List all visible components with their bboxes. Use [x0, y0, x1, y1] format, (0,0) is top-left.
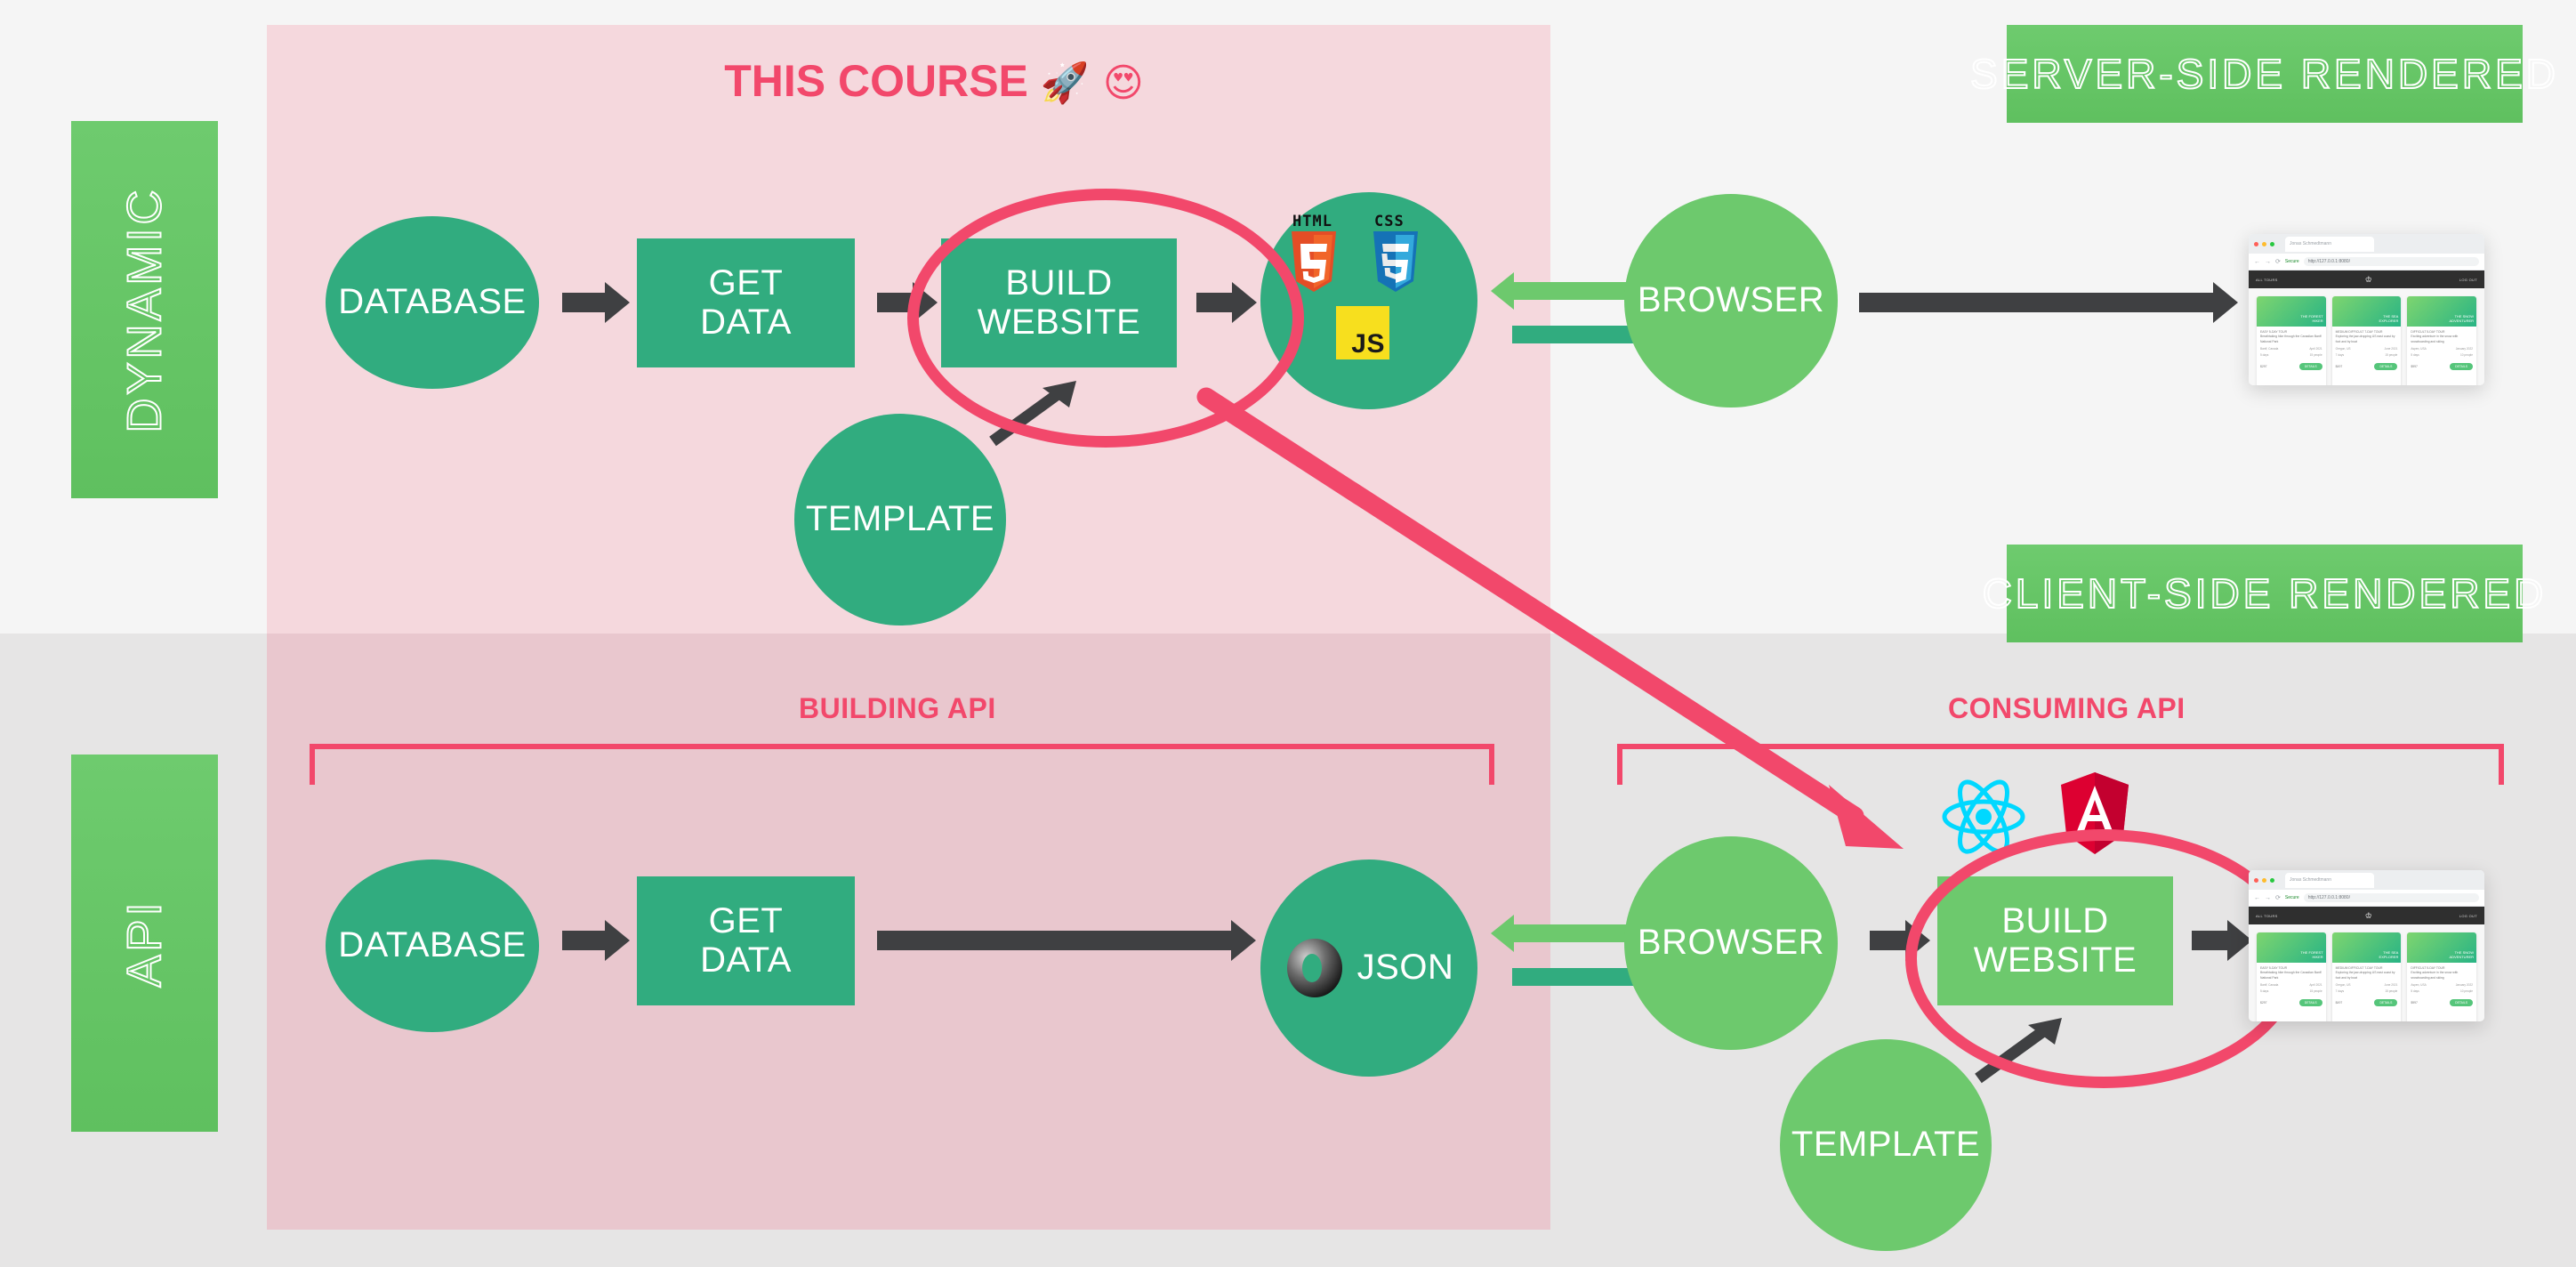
highlight-circle-build-bottom	[1905, 829, 2302, 1088]
traffic-light-minimize-icon	[2262, 878, 2266, 883]
diagram-canvas: DYNAMIC API SERVER-SIDE RENDERED CLIENT-…	[0, 0, 2576, 1267]
tour-card-price: $497	[2336, 365, 2343, 368]
tour-card-title: THE SEA EXPLORER	[2379, 314, 2399, 324]
ribbon-api-label: API	[117, 899, 172, 987]
back-icon: ←	[2254, 259, 2260, 265]
tour-card-details-button[interactable]: DETAILS	[2374, 999, 2397, 1006]
tour-card: THE SNOW ADVENTURER DIFFICULT 5-DAY TOUR…	[2407, 296, 2476, 385]
tour-card-hero: THE SEA EXPLORER	[2332, 296, 2402, 327]
tour-card-hero: THE SEA EXPLORER	[2332, 932, 2402, 963]
mock-url-top: http://127.0.0.1:8080/	[2304, 257, 2479, 266]
tour-card-meta-row: 5 days 10 people	[2411, 989, 2473, 993]
tour-card-desc: Breathtaking hike through the Canadian B…	[2260, 971, 2322, 981]
headline-text: THIS COURSE	[724, 56, 1028, 106]
label-building-api: BUILDING API	[799, 692, 996, 725]
mock-tabbar-bottom: Jonas Schmedtmann	[2249, 870, 2484, 890]
tour-card-details-button[interactable]: DETAILS	[2450, 999, 2473, 1006]
arrow-browser-to-page-top	[1859, 293, 2215, 312]
traffic-light-minimize-icon	[2262, 242, 2266, 246]
mock-nav-logout-top: LOG OUT	[2459, 278, 2477, 282]
node-template-bottom: TEMPLATE	[1780, 1039, 1992, 1251]
tour-card-body: EASY 5-DAY TOUR Breathtaking hike throug…	[2257, 327, 2326, 360]
tour-card-meta-row: Aspen, USA January 2022	[2411, 347, 2473, 351]
tour-card-desc: Exciting adventure in the snow with snow…	[2411, 971, 2473, 981]
secure-label-bottom: Secure	[2285, 895, 2299, 900]
html5-label: HTML	[1292, 214, 1332, 230]
arrow-stack-to-browser-top	[1512, 326, 1646, 343]
tour-card-price: $997	[2411, 365, 2418, 368]
tour-card-meta-row: Banff, Canada April 2021	[2260, 983, 2322, 987]
mock-cards-bottom: THE FOREST HIKER EASY 5-DAY TOUR Breatht…	[2249, 924, 2484, 1021]
tour-card-meta-row: 5 days 10 people	[2411, 353, 2473, 357]
back-icon: ←	[2254, 895, 2260, 901]
mock-site-logo-top: ♔	[2365, 275, 2372, 285]
js-label: JS	[1351, 330, 1389, 359]
tour-card-meta-row: 7 days 15 people	[2336, 353, 2398, 357]
tour-card-footer: $297 DETAILS	[2257, 997, 2326, 1009]
mock-tab-title-top: Jonas Schmedtmann	[2285, 237, 2374, 252]
node-json: JSON	[1260, 859, 1477, 1077]
node-get-data-bottom-line1: GET	[700, 902, 792, 940]
tour-card-footer: $497 DETAILS	[2332, 997, 2402, 1009]
tour-card-hero: THE SNOW ADVENTURER	[2407, 932, 2476, 963]
tour-card-body: EASY 5-DAY TOUR Breathtaking hike throug…	[2257, 963, 2326, 997]
badge-server-side-rendered: SERVER-SIDE RENDERED	[2007, 25, 2523, 123]
node-template-top: TEMPLATE	[794, 414, 1006, 625]
traffic-light-maximize-icon	[2270, 242, 2274, 246]
tour-card-hero: THE SNOW ADVENTURER	[2407, 296, 2476, 327]
node-get-data-bottom-line2: DATA	[700, 941, 792, 980]
mock-sitenav-top: ALL TOURS ♔ LOG OUT	[2249, 270, 2484, 288]
tour-card-meta-row: Banff, Canada April 2021	[2260, 347, 2322, 351]
tour-card-price: $997	[2411, 1001, 2418, 1005]
headline-emoji: 🚀 😍	[1041, 61, 1144, 106]
browser-mockup-bottom: Jonas Schmedtmann ← → ⟳ Secure http://12…	[2249, 870, 2484, 1021]
traffic-light-close-icon	[2254, 242, 2258, 246]
tour-card-price: $297	[2260, 365, 2267, 368]
mock-urlbar-top: ← → ⟳ Secure http://127.0.0.1:8080/	[2249, 254, 2484, 270]
tour-card-title: THE SEA EXPLORER	[2379, 950, 2399, 960]
tour-card-details-button[interactable]: DETAILS	[2450, 363, 2473, 370]
node-template-bottom-label: TEMPLATE	[1791, 1126, 1980, 1164]
node-browser-bottom-label: BROWSER	[1638, 924, 1824, 962]
tour-card: THE FOREST HIKER EASY 5-DAY TOUR Breatht…	[2257, 296, 2326, 385]
mock-nav-all-tours-bottom: ALL TOURS	[2256, 914, 2278, 918]
tour-card-title: THE SNOW ADVENTURER	[2449, 950, 2474, 960]
tour-card-details-button[interactable]: DETAILS	[2299, 363, 2322, 370]
node-template-top-label: TEMPLATE	[806, 500, 994, 538]
secure-label-top: Secure	[2285, 259, 2299, 264]
tour-card-meta-row: Oregon, US June 2021	[2336, 983, 2398, 987]
tour-card-meta-row: Aspen, USA January 2022	[2411, 983, 2473, 987]
arrow-browser-to-build-bottom	[1870, 931, 1907, 950]
node-json-label: JSON	[1357, 948, 1454, 987]
json-logo	[1284, 938, 1345, 998]
node-database-top: DATABASE	[326, 216, 539, 389]
forward-icon: →	[2265, 259, 2271, 265]
node-database-top-label: DATABASE	[338, 283, 526, 321]
arrow-ssr-to-csr	[1192, 383, 1921, 863]
arrow-db-to-getdata-top	[562, 293, 607, 312]
node-browser-bottom: BROWSER	[1624, 836, 1838, 1050]
traffic-light-close-icon	[2254, 878, 2258, 883]
headline: THIS COURSE 🚀 😍	[712, 55, 1156, 107]
node-get-data-top-line1: GET	[700, 264, 792, 303]
tour-card-title: THE SNOW ADVENTURER	[2449, 314, 2474, 324]
browser-mockup-top: Jonas Schmedtmann ← → ⟳ Secure http://12…	[2249, 234, 2484, 385]
node-browser-top-label: BROWSER	[1638, 281, 1824, 319]
tour-card-meta-row: 5 days 15 people	[2260, 353, 2322, 357]
tour-card-hero: THE FOREST HIKER	[2257, 932, 2326, 963]
css3-logo	[1371, 231, 1421, 292]
tour-card: THE SEA EXPLORER MEDIUM DIFFICULT 7-DAY …	[2332, 296, 2402, 385]
ribbon-api: API	[71, 755, 218, 1132]
reload-icon: ⟳	[2275, 894, 2281, 901]
tour-card-body: MEDIUM DIFFICULT 7-DAY TOUR Exploring th…	[2332, 963, 2402, 997]
ribbon-dynamic-label: DYNAMIC	[117, 186, 173, 432]
tour-card-body: DIFFICULT 5-DAY TOUR Exciting adventure …	[2407, 327, 2476, 360]
mock-urlbar-bottom: ← → ⟳ Secure http://127.0.0.1:8080/	[2249, 890, 2484, 907]
tour-card-meta-row: 5 days 15 people	[2260, 989, 2322, 993]
tour-card-title: THE FOREST HIKER	[2300, 950, 2322, 960]
forward-icon: →	[2265, 895, 2271, 901]
badge-ssr-label: SERVER-SIDE RENDERED	[1970, 50, 2559, 98]
tour-card-details-button[interactable]: DETAILS	[2374, 363, 2397, 370]
arrow-getdata-to-json-bottom	[877, 931, 1233, 950]
tour-card-price: $297	[2260, 1001, 2267, 1005]
tour-card: THE SEA EXPLORER MEDIUM DIFFICULT 7-DAY …	[2332, 932, 2402, 1021]
tour-card-body: MEDIUM DIFFICULT 7-DAY TOUR Exploring th…	[2332, 327, 2402, 360]
mock-nav-all-tours-top: ALL TOURS	[2256, 278, 2278, 282]
tour-card-title: THE FOREST HIKER	[2300, 314, 2322, 324]
tour-card-footer: $297 DETAILS	[2257, 360, 2326, 373]
tour-card-desc: Exploring the jaw-dropping US east coast…	[2336, 335, 2398, 344]
node-database-bottom: DATABASE	[326, 859, 539, 1032]
css3-label: CSS	[1374, 214, 1405, 230]
label-consuming-api: CONSUMING API	[1948, 692, 2186, 725]
tour-card-desc: Breathtaking hike through the Canadian B…	[2260, 335, 2322, 344]
mock-url-bottom: http://127.0.0.1:8080/	[2304, 893, 2479, 902]
badge-csr-label: CLIENT-SIDE RENDERED	[1983, 569, 2548, 617]
node-database-bottom-label: DATABASE	[338, 926, 526, 964]
mock-tab-title-bottom: Jonas Schmedtmann	[2285, 873, 2374, 888]
tour-card-details-button[interactable]: DETAILS	[2299, 999, 2322, 1006]
badge-client-side-rendered: CLIENT-SIDE RENDERED	[2007, 545, 2523, 642]
arrow-db-to-getdata-bottom	[562, 931, 607, 950]
tour-card-footer: $997 DETAILS	[2407, 360, 2476, 373]
mock-sitenav-bottom: ALL TOURS ♔ LOG OUT	[2249, 907, 2484, 924]
mock-cards-top: THE FOREST HIKER EASY 5-DAY TOUR Breatht…	[2249, 288, 2484, 385]
tour-card-meta-row: Oregon, US June 2021	[2336, 347, 2398, 351]
tour-card: THE FOREST HIKER EASY 5-DAY TOUR Breatht…	[2257, 932, 2326, 1021]
tour-card-footer: $497 DETAILS	[2332, 360, 2402, 373]
node-get-data-top-line2: DATA	[700, 303, 792, 342]
mock-site-logo-bottom: ♔	[2365, 911, 2372, 921]
ribbon-dynamic: DYNAMIC	[71, 121, 218, 498]
js-logo: JS	[1336, 306, 1389, 359]
tour-card-desc: Exciting adventure in the snow with snow…	[2411, 335, 2473, 344]
arrow-json-to-browser	[1512, 968, 1646, 986]
tour-card-footer: $997 DETAILS	[2407, 997, 2476, 1009]
reload-icon: ⟳	[2275, 258, 2281, 265]
node-get-data-bottom: GET DATA	[637, 876, 855, 1005]
tour-card-hero: THE FOREST HIKER	[2257, 296, 2326, 327]
tour-card-desc: Exploring the jaw-dropping US east coast…	[2336, 971, 2398, 981]
mock-nav-logout-bottom: LOG OUT	[2459, 914, 2477, 918]
bracket-building-api	[310, 744, 1494, 785]
node-get-data-top: GET DATA	[637, 238, 855, 367]
traffic-light-maximize-icon	[2270, 878, 2274, 883]
tour-card-body: DIFFICULT 5-DAY TOUR Exciting adventure …	[2407, 963, 2476, 997]
tour-card: THE SNOW ADVENTURER DIFFICULT 5-DAY TOUR…	[2407, 932, 2476, 1021]
tour-card-meta-row: 7 days 15 people	[2336, 989, 2398, 993]
tour-card-price: $497	[2336, 1001, 2343, 1005]
mock-tabbar-top: Jonas Schmedtmann	[2249, 234, 2484, 254]
node-browser-top: BROWSER	[1624, 194, 1838, 408]
